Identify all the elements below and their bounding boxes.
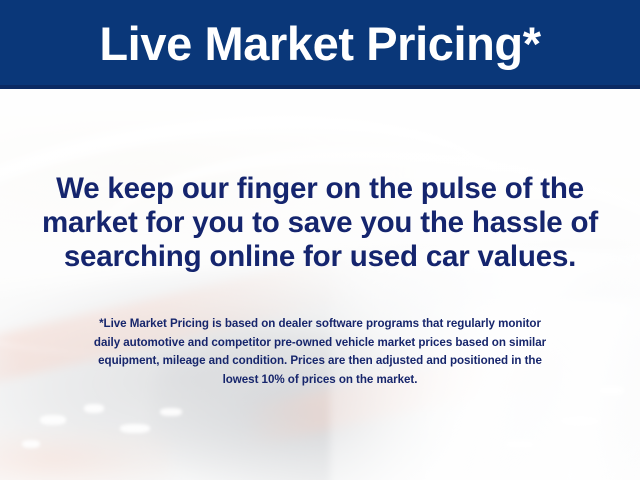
disclaimer-line-1: *Live Market Pricing is based on dealer … bbox=[22, 315, 618, 334]
live-market-pricing-banner: Live Market Pricing* We keep our finger … bbox=[0, 0, 640, 480]
headline-line-3: searching online for used car values. bbox=[20, 240, 620, 274]
disclaimer-line-4: lowest 10% of prices on the market. bbox=[22, 371, 618, 390]
content-area: We keep our finger on the pulse of the m… bbox=[0, 89, 640, 480]
disclaimer: *Live Market Pricing is based on dealer … bbox=[22, 315, 618, 389]
headline: We keep our finger on the pulse of the m… bbox=[20, 172, 620, 274]
headline-line-2: market for you to save you the hassle of bbox=[20, 206, 620, 240]
page-title: Live Market Pricing* bbox=[0, 0, 640, 86]
headline-line-1: We keep our finger on the pulse of the bbox=[20, 172, 620, 206]
disclaimer-line-3: equipment, mileage and condition. Prices… bbox=[22, 352, 618, 371]
disclaimer-line-2: daily automotive and competitor pre-owne… bbox=[22, 334, 618, 353]
